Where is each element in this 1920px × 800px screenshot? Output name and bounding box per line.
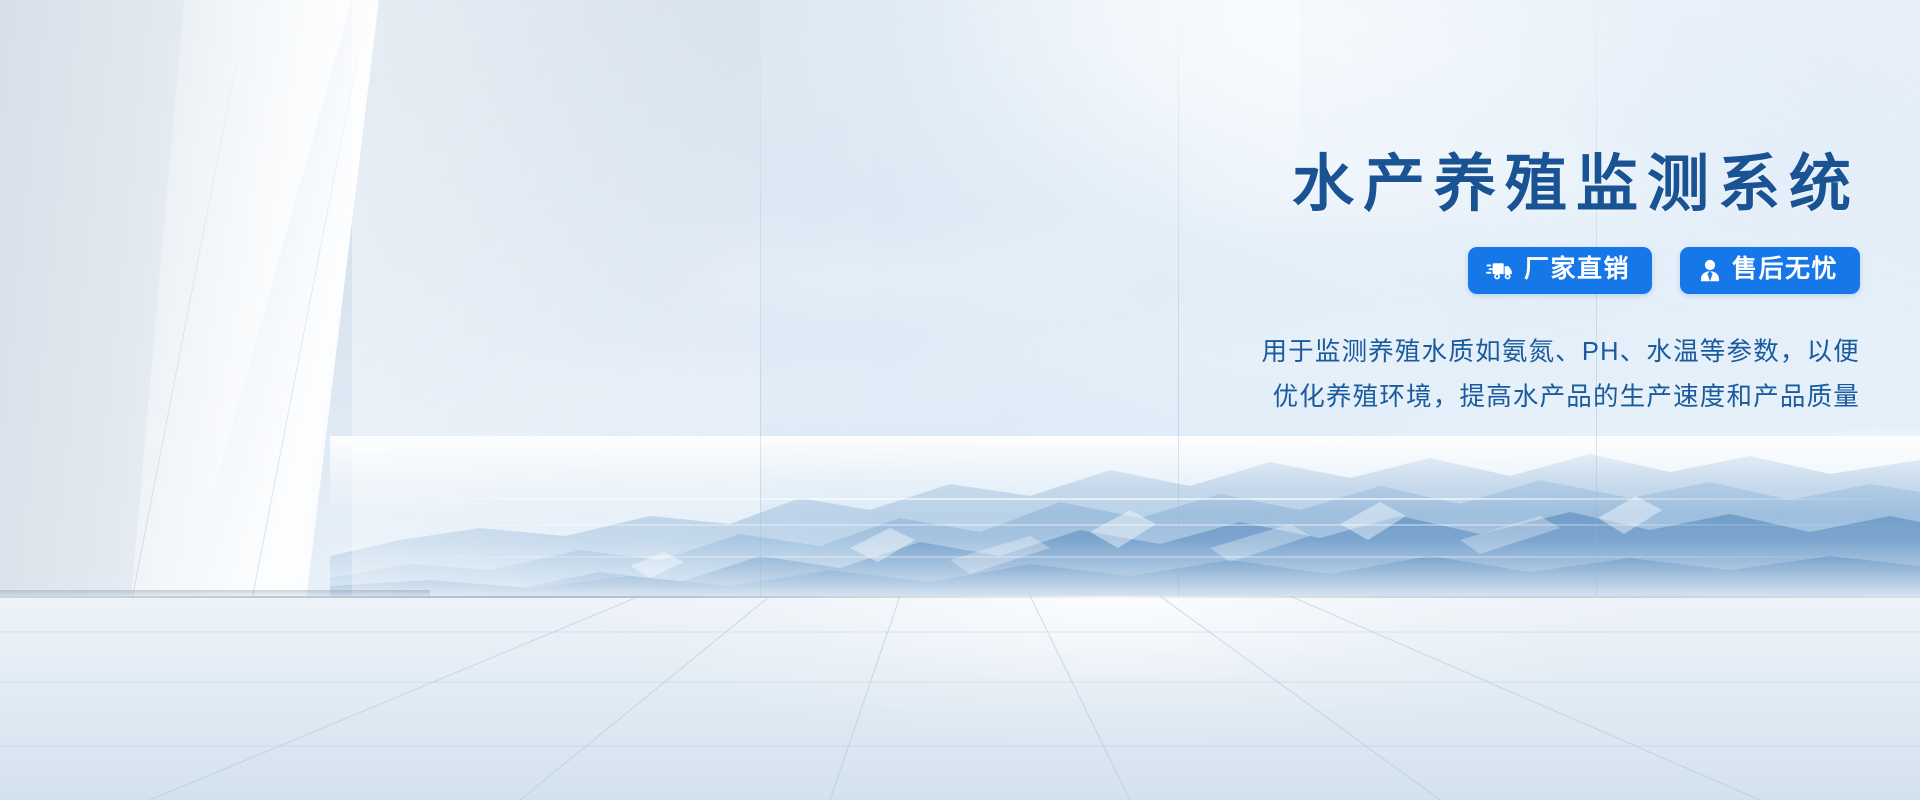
badge-after-sales[interactable]: 售后无忧: [1680, 247, 1860, 293]
badge-after-sales-label: 售后无忧: [1732, 254, 1838, 285]
banner-content: 水产养殖监测系统: [860, 150, 1860, 420]
banner-description: 用于监测养殖水质如氨氮、PH、水温等参数，以便 优化养殖环境，提高水产品的生产速…: [860, 330, 1860, 421]
badge-row: 厂家直销 售后无忧: [860, 247, 1860, 293]
page-title: 水产养殖监测系统: [860, 150, 1860, 219]
support-person-icon: [1698, 259, 1722, 282]
delivery-truck-icon: [1486, 259, 1514, 281]
description-line-1: 用于监测养殖水质如氨氮、PH、水温等参数，以便: [860, 330, 1860, 375]
description-line-2: 优化养殖环境，提高水产品的生产速度和产品质量: [860, 375, 1860, 420]
glass-sheen: [352, 0, 872, 612]
tiled-floor: [0, 596, 1920, 800]
badge-factory-direct-label: 厂家直销: [1524, 254, 1630, 285]
product-hero-banner: 水产养殖监测系统: [0, 0, 1920, 800]
badge-factory-direct[interactable]: 厂家直销: [1468, 247, 1652, 293]
